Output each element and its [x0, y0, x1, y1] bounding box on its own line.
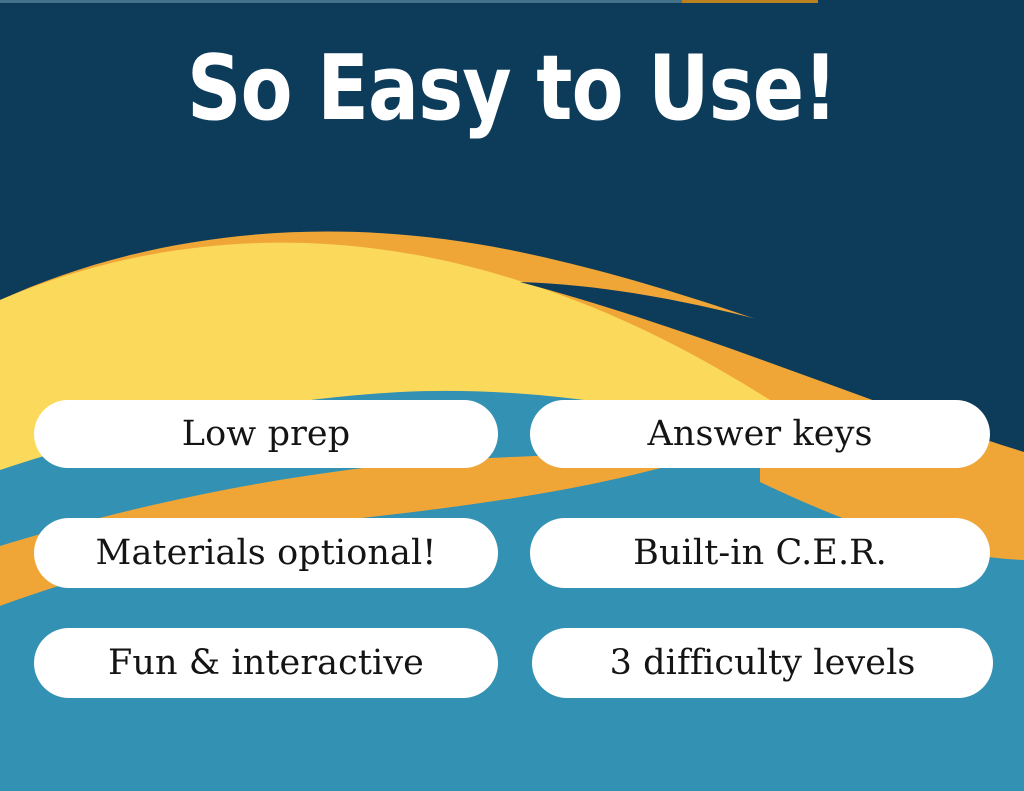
feature-pill-built-in-cer[interactable]: Built-in C.E.R.	[530, 518, 990, 588]
feature-pill-difficulty-levels[interactable]: 3 difficulty levels	[532, 628, 993, 698]
feature-pill-materials-optional[interactable]: Materials optional!	[34, 518, 498, 588]
progress-track	[0, 0, 682, 3]
feature-pill-fun-interactive[interactable]: Fun & interactive	[34, 628, 498, 698]
poster-canvas: So Easy to Use! Low prep Answer keys Mat…	[0, 0, 1024, 791]
page-title: So Easy to Use!	[82, 42, 942, 137]
progress-fill	[682, 0, 818, 3]
feature-pill-answer-keys[interactable]: Answer keys	[530, 400, 990, 468]
top-progress-strip	[0, 0, 1024, 4]
feature-pill-low-prep[interactable]: Low prep	[34, 400, 498, 468]
